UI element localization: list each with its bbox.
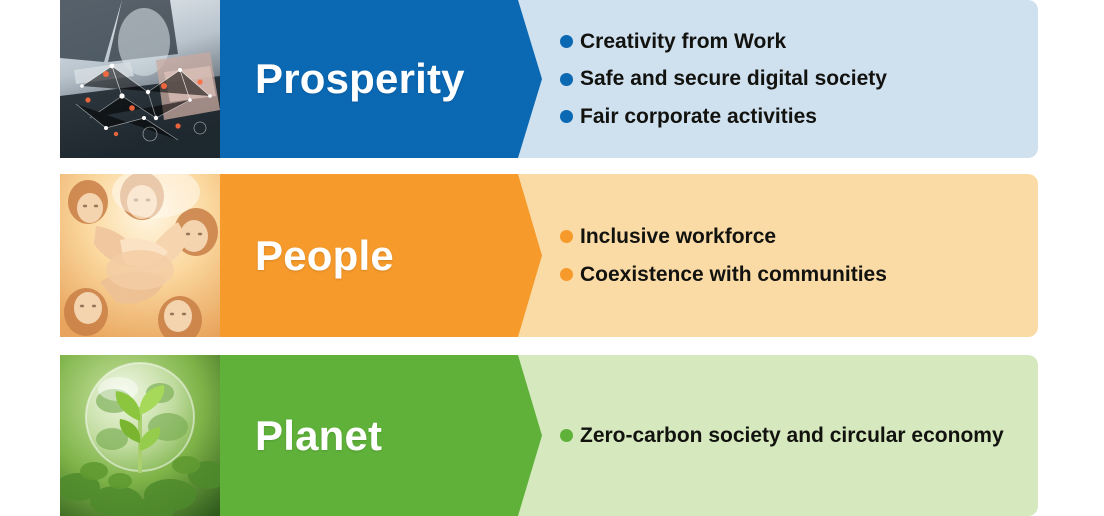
- pillar-bullets-people: Inclusive workforce Coexistence with com…: [560, 174, 887, 337]
- bullet-dot-icon: [560, 110, 573, 123]
- list-item: Inclusive workforce: [560, 225, 887, 248]
- bullet-text: Safe and secure digital society: [580, 67, 887, 90]
- hands-on-laptop-digital-network-photo: [60, 0, 220, 158]
- bullet-dot-icon: [560, 73, 573, 86]
- pillar-bullets-planet: Zero-carbon society and circular economy: [560, 355, 1004, 516]
- bullet-text: Coexistence with communities: [580, 263, 887, 286]
- pillar-row-planet: Planet Zero-carbon society and circular …: [60, 355, 1038, 516]
- pillar-arrow-planet: Planet: [220, 355, 542, 516]
- list-item: Fair corporate activities: [560, 105, 887, 128]
- pillar-label-planet: Planet: [255, 412, 382, 460]
- bullet-dot-icon: [560, 35, 573, 48]
- bullet-dot-icon: [560, 230, 573, 243]
- list-item: Safe and secure digital society: [560, 67, 887, 90]
- pillars-diagram: Prosperity Creativity from Work Safe and…: [0, 0, 1104, 516]
- bullet-dot-icon: [560, 429, 573, 442]
- list-item: Zero-carbon society and circular economy: [560, 424, 1004, 447]
- pillar-label-people: People: [255, 232, 394, 280]
- green-globe-with-seedling-photo: [60, 355, 220, 516]
- pillar-row-people: People Inclusive workforce Coexistence w…: [60, 174, 1038, 337]
- bullet-text: Inclusive workforce: [580, 225, 776, 248]
- bullet-text: Zero-carbon society and circular economy: [580, 424, 1004, 447]
- pillar-arrow-people: People: [220, 174, 542, 337]
- bullet-dot-icon: [560, 268, 573, 281]
- bullet-text: Creativity from Work: [580, 30, 786, 53]
- bullet-text: Fair corporate activities: [580, 105, 817, 128]
- diverse-people-joining-hands-photo: [60, 174, 220, 337]
- list-item: Creativity from Work: [560, 30, 887, 53]
- pillar-row-prosperity: Prosperity Creativity from Work Safe and…: [60, 0, 1038, 158]
- pillar-label-prosperity: Prosperity: [255, 55, 465, 103]
- list-item: Coexistence with communities: [560, 263, 887, 286]
- pillar-bullets-prosperity: Creativity from Work Safe and secure dig…: [560, 0, 887, 158]
- pillar-arrow-prosperity: Prosperity: [220, 0, 542, 158]
